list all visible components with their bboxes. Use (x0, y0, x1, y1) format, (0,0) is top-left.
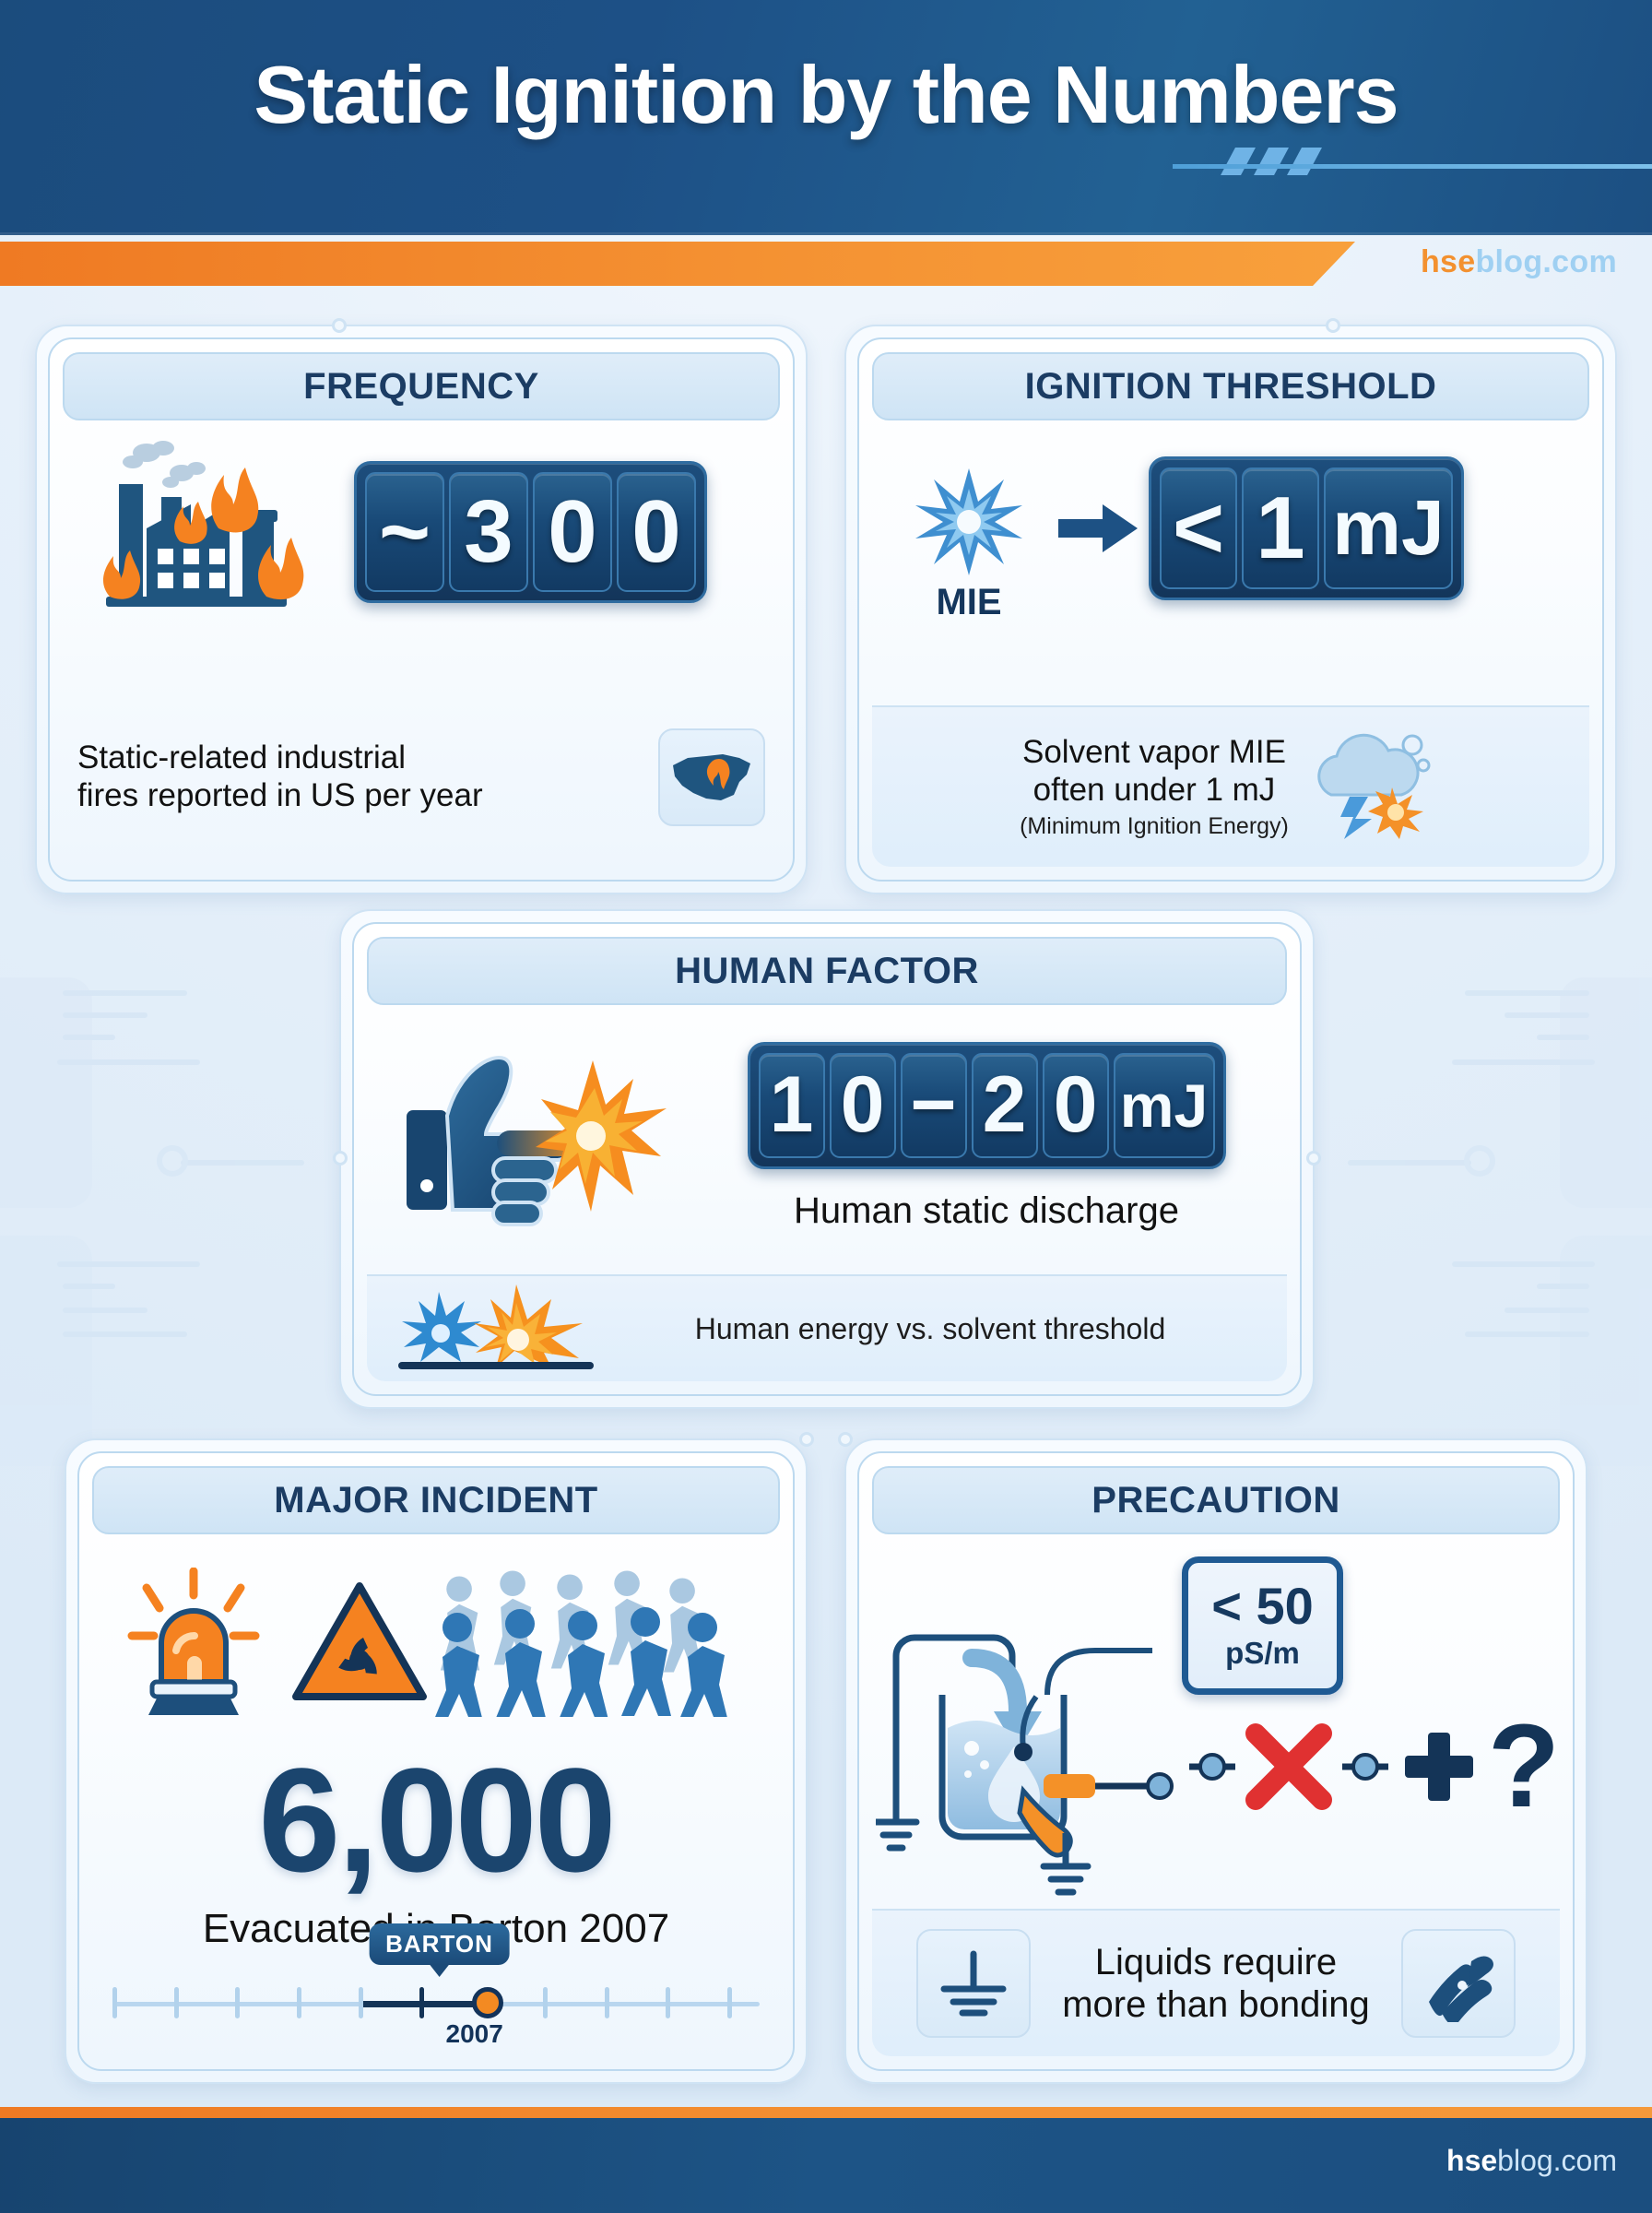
odometer-cell: 0 (830, 1053, 896, 1158)
ignition-caption-line2: often under 1 mJ (1020, 772, 1289, 810)
panel-human-factor: HUMAN FACTOR (339, 909, 1315, 1409)
ignition-caption: Solvent vapor MIE often under 1 mJ (Mini… (1020, 734, 1289, 839)
precaution-symbols: ? (1189, 1719, 1560, 1815)
panel-precaution: PRECAUTION (844, 1438, 1587, 2084)
us-map-flame-icon (658, 728, 765, 826)
precaution-foot: Liquids require more than bonding (872, 1909, 1560, 2056)
panel-ignition-threshold-inner: IGNITION THRESHOLD MIE (857, 337, 1604, 882)
vapor-cloud-spark-icon (1304, 730, 1442, 844)
barton-timeline: BARTON 2007 (112, 1914, 760, 2043)
odometer-cell: mJ (1324, 467, 1453, 589)
precaution-diagram-row: < 50 pS/m (859, 1547, 1573, 1916)
hand-spark-icon (396, 1038, 673, 1237)
odometer-cell: ~ (365, 472, 444, 592)
odometer-cell: 0 (533, 472, 612, 592)
odometer-cell: 2 (972, 1053, 1038, 1158)
frequency-odometer: ~ 3 0 0 (354, 461, 707, 603)
two-sparks-icon (398, 1283, 610, 1376)
odometer-cell: mJ (1114, 1053, 1215, 1158)
circuit-decoration-right (1283, 968, 1652, 1411)
footer-brand-primary: hse (1446, 2144, 1497, 2177)
circuit-decoration-left (0, 968, 369, 1411)
odometer-cell: 0 (617, 472, 696, 592)
header-brand-primary: hse (1421, 244, 1476, 279)
page-title: Static Ignition by the Numbers (0, 48, 1652, 142)
blue-spark-icon (912, 465, 1026, 579)
panel-human-factor-inner: HUMAN FACTOR (352, 922, 1302, 1396)
timeline-marker (472, 1987, 503, 2018)
precaution-foot-caption: Liquids require more than bonding (1062, 1941, 1370, 2027)
panel-human-factor-title: HUMAN FACTOR (367, 937, 1287, 1005)
header-accent-line (1173, 164, 1652, 169)
panel-nub (333, 1151, 348, 1166)
timeline-tick (727, 1987, 732, 2018)
evacuating-crowd-icon (433, 1565, 793, 1722)
human-factor-value-group: 1 0 − 2 0 mJ Human static discharge (673, 1042, 1300, 1232)
human-factor-odometer: 1 0 − 2 0 mJ (748, 1042, 1226, 1169)
plus-icon (1399, 1727, 1479, 1806)
major-incident-icons-row (79, 1551, 793, 1735)
ignition-foot: Solvent vapor MIE often under 1 mJ (Mini… (872, 705, 1589, 867)
bond-node-right-icon (1342, 1744, 1388, 1790)
timeline-tick (666, 1987, 670, 2018)
ignition-main-row: MIE < 1 mJ (859, 435, 1602, 652)
human-factor-main-row: 1 0 − 2 0 mJ Human static discharge (354, 1022, 1300, 1252)
panel-nub (838, 1432, 853, 1447)
panel-major-incident: MAJOR INCIDENT (65, 1438, 808, 2084)
bond-node-left-icon (1189, 1744, 1235, 1790)
frequency-main-row: ~ 3 0 0 (50, 435, 793, 629)
header-chevrons-icon (1228, 148, 1375, 179)
blue-spark-group: MIE (891, 465, 1047, 623)
infographic-page: Static Ignition by the Numbers hseblog.c… (0, 0, 1652, 2213)
panel-frequency-inner: FREQUENCY (48, 337, 795, 882)
panel-nub (1306, 1151, 1321, 1166)
header-brand-secondary: blog.com (1475, 244, 1617, 279)
panel-ignition-threshold-title: IGNITION THRESHOLD (872, 352, 1589, 420)
header-orange-band (0, 242, 1355, 286)
odometer-cell: < (1160, 467, 1237, 589)
footer-brand[interactable]: hseblog.com (1446, 2144, 1617, 2178)
hazard-triangle-icon (286, 1579, 433, 1708)
timeline-tick (112, 1987, 117, 2018)
header-brand[interactable]: hseblog.com (1421, 244, 1617, 280)
ignition-odometer: < 1 mJ (1149, 456, 1464, 600)
panel-nub (1326, 318, 1340, 333)
odometer-cell: − (901, 1053, 967, 1158)
ignition-caption-line1: Solvent vapor MIE (1020, 734, 1289, 772)
panel-precaution-inner: PRECAUTION (857, 1451, 1575, 2071)
mie-label: MIE (891, 582, 1047, 623)
panel-ignition-threshold: IGNITION THRESHOLD MIE (844, 325, 1617, 894)
alarm-beacon-icon (101, 1568, 286, 1720)
human-factor-caption: Human static discharge (794, 1189, 1179, 1232)
frequency-caption-line1: Static-related industrial (77, 740, 658, 777)
panel-major-incident-title: MAJOR INCIDENT (92, 1466, 780, 1534)
timeline-tick (235, 1987, 240, 2018)
human-factor-foot-caption: Human energy vs. solvent threshold (625, 1312, 1235, 1346)
major-incident-big-number: 6,000 (79, 1746, 793, 1894)
panel-major-incident-inner: MAJOR INCIDENT (77, 1451, 795, 2071)
bonding-clamp-icon (1401, 1929, 1516, 2038)
red-x-icon (1241, 1719, 1337, 1815)
conductivity-badge: < 50 pS/m (1182, 1556, 1343, 1695)
timeline-year: 2007 (446, 2019, 503, 2049)
burning-factory-icon (50, 440, 354, 624)
timeline-tick (543, 1987, 548, 2018)
odometer-cell: 3 (449, 472, 528, 592)
odometer-cell: 1 (759, 1053, 825, 1158)
frequency-caption-row: Static-related industrial fires reported… (50, 717, 793, 837)
timeline-tick (605, 1987, 609, 2018)
right-arrow-icon (1047, 501, 1149, 556)
precaution-foot-line1: Liquids require (1062, 1941, 1370, 1983)
panel-frequency: FREQUENCY (35, 325, 808, 894)
earth-ground-icon (916, 1929, 1031, 2038)
timeline-tick (359, 1987, 363, 2018)
frequency-caption: Static-related industrial fires reported… (77, 740, 658, 814)
odometer-cell: 1 (1242, 467, 1319, 589)
badge-unit: pS/m (1225, 1636, 1300, 1671)
panel-frequency-title: FREQUENCY (63, 352, 780, 420)
badge-value: < 50 (1211, 1580, 1314, 1632)
page-header: Static Ignition by the Numbers (0, 0, 1652, 235)
question-mark-icon: ? (1488, 1721, 1560, 1813)
timeline-tick (174, 1987, 179, 2018)
panel-nub (799, 1432, 814, 1447)
page-footer: hseblog.com (0, 2116, 1652, 2213)
human-factor-foot: Human energy vs. solvent threshold (367, 1274, 1287, 1381)
timeline-flag: BARTON (369, 1923, 510, 1965)
frequency-caption-line2: fires reported in US per year (77, 777, 658, 815)
panel-precaution-title: PRECAUTION (872, 1466, 1560, 1534)
ignition-subcaption: (Minimum Ignition Energy) (1020, 813, 1289, 840)
panel-nub (332, 318, 347, 333)
timeline-tick (419, 1987, 424, 2018)
footer-brand-secondary: blog.com (1497, 2144, 1617, 2177)
timeline-tick (297, 1987, 301, 2018)
precaution-foot-line2: more than bonding (1062, 1983, 1370, 2026)
odometer-cell: 0 (1043, 1053, 1109, 1158)
